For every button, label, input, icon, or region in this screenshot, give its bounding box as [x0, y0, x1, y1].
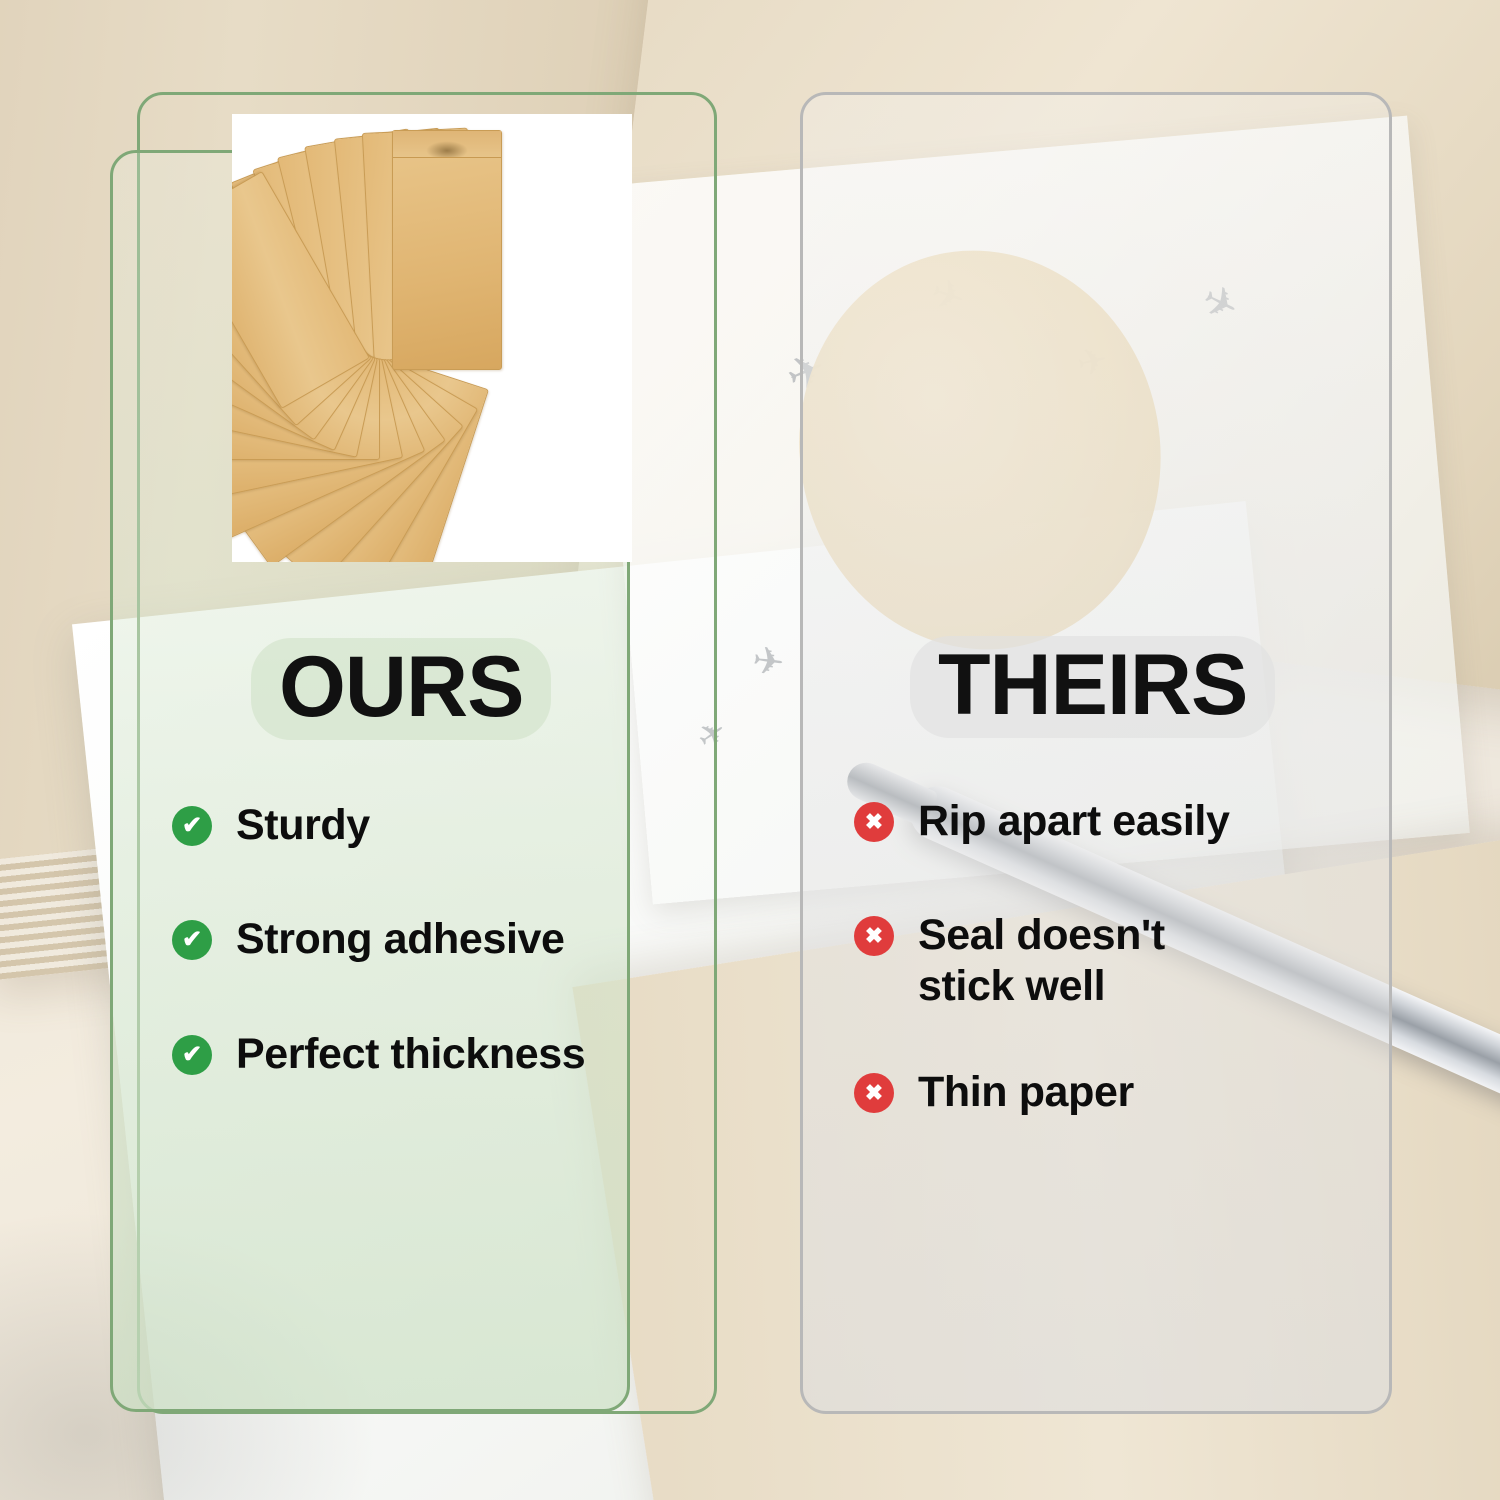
feature-label: Perfect thickness	[236, 1029, 585, 1079]
feature-label: Rip apart easily	[918, 796, 1229, 846]
product-photo	[232, 114, 632, 562]
check-icon: ✔	[172, 1035, 212, 1075]
list-item: ✔ Sturdy	[172, 800, 672, 850]
list-item: ✔ Strong adhesive	[172, 914, 672, 964]
check-icon: ✔	[172, 806, 212, 846]
envelope-front	[392, 130, 502, 370]
list-item: ✖ Rip apart easily	[854, 796, 1374, 846]
cross-icon: ✖	[854, 916, 894, 956]
feature-label: Sturdy	[236, 800, 370, 850]
cross-icon: ✖	[854, 1073, 894, 1113]
list-item: ✔ Perfect thickness	[172, 1029, 672, 1079]
bird-icon: ✈	[750, 642, 786, 684]
check-icon: ✔	[172, 920, 212, 960]
theirs-feature-list: ✖ Rip apart easily ✖ Seal doesn't stick …	[854, 796, 1374, 1181]
ours-feature-list: ✔ Sturdy ✔ Strong adhesive ✔ Perfect thi…	[172, 800, 672, 1143]
comparison-image: ✈ ✈ ✈ ✈ ✈ ✈	[0, 0, 1500, 1500]
feature-label: Strong adhesive	[236, 914, 565, 964]
envelope-logo	[426, 141, 468, 157]
feature-label: Seal doesn't stick well	[918, 910, 1218, 1011]
feature-label: Thin paper	[918, 1067, 1134, 1117]
theirs-panel	[800, 92, 1392, 1414]
cross-icon: ✖	[854, 802, 894, 842]
ours-title: OURS	[251, 638, 551, 740]
envelope-fan	[232, 114, 632, 562]
list-item: ✖ Seal doesn't stick well	[854, 910, 1374, 1011]
theirs-title: THEIRS	[910, 636, 1275, 738]
list-item: ✖ Thin paper	[854, 1067, 1374, 1117]
